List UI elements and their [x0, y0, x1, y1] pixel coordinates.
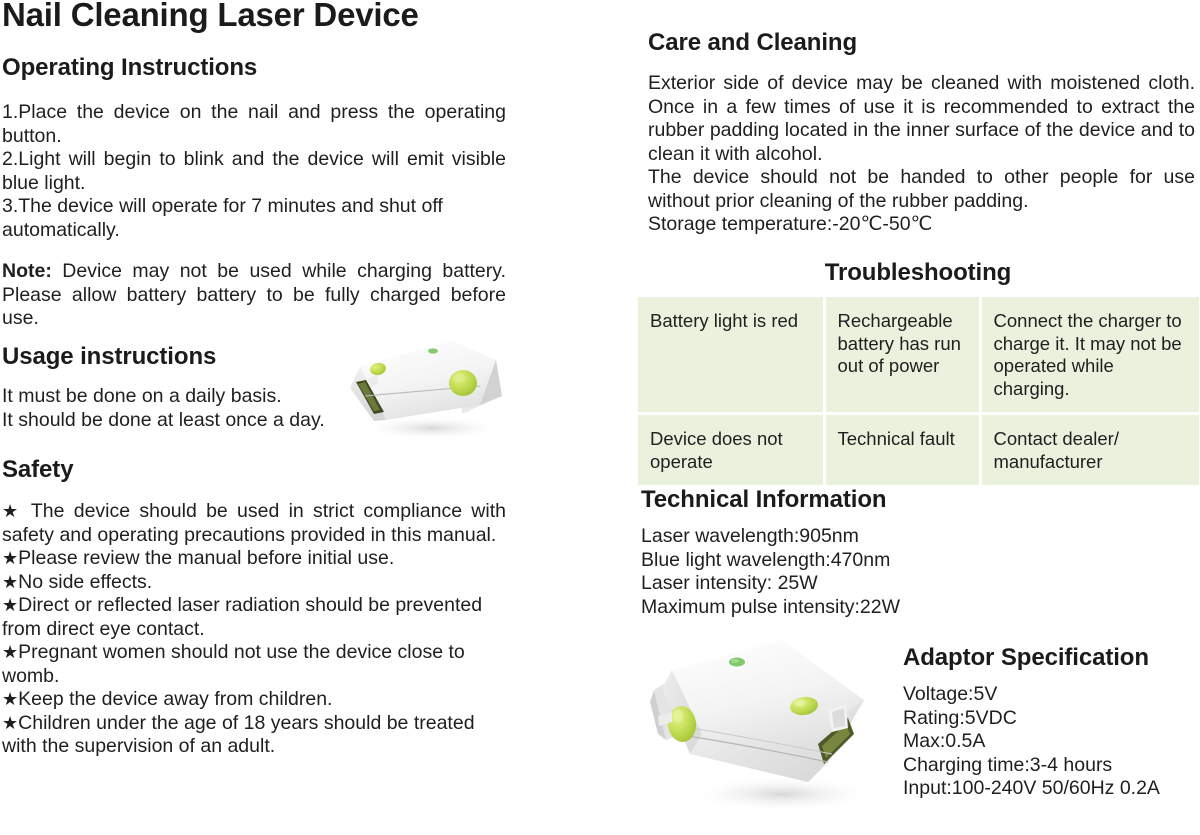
safety-item: ★No side effects. [2, 571, 506, 595]
adaptor-spec: Max:0.5A [903, 730, 1200, 754]
device-illustration [632, 622, 917, 822]
star-bullet-icon: ★ [2, 595, 18, 615]
safety-item: ★Please review the manual before initial… [2, 547, 506, 571]
technical-spec: Maximum pulse intensity:22W [641, 596, 1161, 620]
care-paragraph: The device should not be handed to other… [648, 166, 1195, 213]
table-cell-cause: Technical fault [824, 414, 980, 486]
page-title: Nail Cleaning Laser Device [2, 0, 522, 31]
heading-adaptor-specification: Adaptor Specification [903, 645, 1200, 671]
heading-troubleshooting: Troubleshooting [638, 260, 1198, 286]
heading-care-and-cleaning: Care and Cleaning [648, 30, 1200, 56]
star-bullet-icon: ★ [2, 713, 18, 733]
star-bullet-icon: ★ [2, 548, 18, 568]
table-cell-solution: Contact dealer/ manufacturer [980, 414, 1199, 486]
safety-item: ★Keep the device away from children. [2, 688, 506, 712]
safety-item: ★Direct or reflected laser radiation sho… [2, 594, 506, 641]
operating-step: 1.Place the device on the nail and press… [2, 101, 506, 148]
safety-item: ★Pregnant women should not use the devic… [2, 641, 506, 688]
safety-item-text: Pregnant women should not use the device… [2, 641, 465, 687]
table-cell-solution: Connect the charger to charge it. It may… [980, 297, 1199, 414]
safety-item-text: Keep the device away from children. [18, 688, 332, 710]
star-bullet-icon: ★ [2, 689, 18, 709]
technical-spec: Laser wavelength:905nm [641, 525, 1161, 549]
table-row: Battery light is red Rechargeable batter… [638, 297, 1199, 414]
star-bullet-icon: ★ [2, 572, 18, 592]
care-and-cleaning-text: Exterior side of device may be cleaned w… [648, 72, 1195, 237]
safety-item-text: The device should be used in strict comp… [2, 500, 506, 546]
technical-information-list: Laser wavelength:905nm Blue light wavele… [641, 525, 1161, 619]
device-illustration [330, 322, 525, 447]
device-image-large [632, 622, 917, 822]
adaptor-specification-list: Voltage:5V Rating:5VDC Max:0.5A Charging… [903, 683, 1200, 801]
adaptor-spec: Input:100-240V 50/60Hz 0.2A [903, 777, 1200, 801]
heading-technical-information: Technical Information [641, 487, 1193, 513]
operating-instructions-list: 1.Place the device on the nail and press… [2, 101, 506, 242]
safety-item-text: Direct or reflected laser radiation shou… [2, 594, 482, 640]
star-bullet-icon: ★ [2, 501, 22, 521]
safety-item: ★Children under the age of 18 years shou… [2, 712, 506, 759]
table-cell-problem: Battery light is red [638, 297, 824, 414]
note-text: Device may not be used while charging ba… [2, 260, 506, 329]
adaptor-spec: Rating:5VDC [903, 707, 1200, 731]
operating-step: 3.The device will operate for 7 minutes … [2, 195, 506, 242]
technical-spec: Laser intensity: 25W [641, 572, 1161, 596]
troubleshooting-table: Battery light is red Rechargeable batter… [638, 297, 1199, 485]
table-row: Device does not operate Technical fault … [638, 414, 1199, 486]
adaptor-spec: Charging time:3-4 hours [903, 754, 1200, 778]
operating-step: 2.Light will begin to blink and the devi… [2, 148, 506, 195]
safety-list: ★ The device should be used in strict co… [2, 500, 506, 759]
safety-item: ★ The device should be used in strict co… [2, 500, 506, 547]
safety-item-text: Children under the age of 18 years shoul… [2, 712, 475, 758]
note-paragraph: Note: Device may not be used while charg… [2, 260, 506, 331]
star-bullet-icon: ★ [2, 642, 18, 662]
heading-safety: Safety [2, 457, 522, 483]
storage-temperature: Storage temperature:-20℃-50℃ [648, 213, 1195, 237]
heading-operating-instructions: Operating Instructions [2, 55, 522, 81]
device-image-small [330, 322, 525, 447]
technical-spec: Blue light wavelength:470nm [641, 549, 1161, 573]
manual-page: Nail Cleaning Laser Device Operating Ins… [0, 0, 1200, 835]
note-label: Note: [2, 260, 52, 282]
care-paragraph: Exterior side of device may be cleaned w… [648, 72, 1195, 166]
adaptor-spec: Voltage:5V [903, 683, 1200, 707]
safety-item-text: Please review the manual before initial … [18, 547, 394, 569]
table-cell-problem: Device does not operate [638, 414, 824, 486]
table-cell-cause: Rechargeable battery has run out of powe… [824, 297, 980, 414]
safety-item-text: No side effects. [18, 571, 152, 593]
